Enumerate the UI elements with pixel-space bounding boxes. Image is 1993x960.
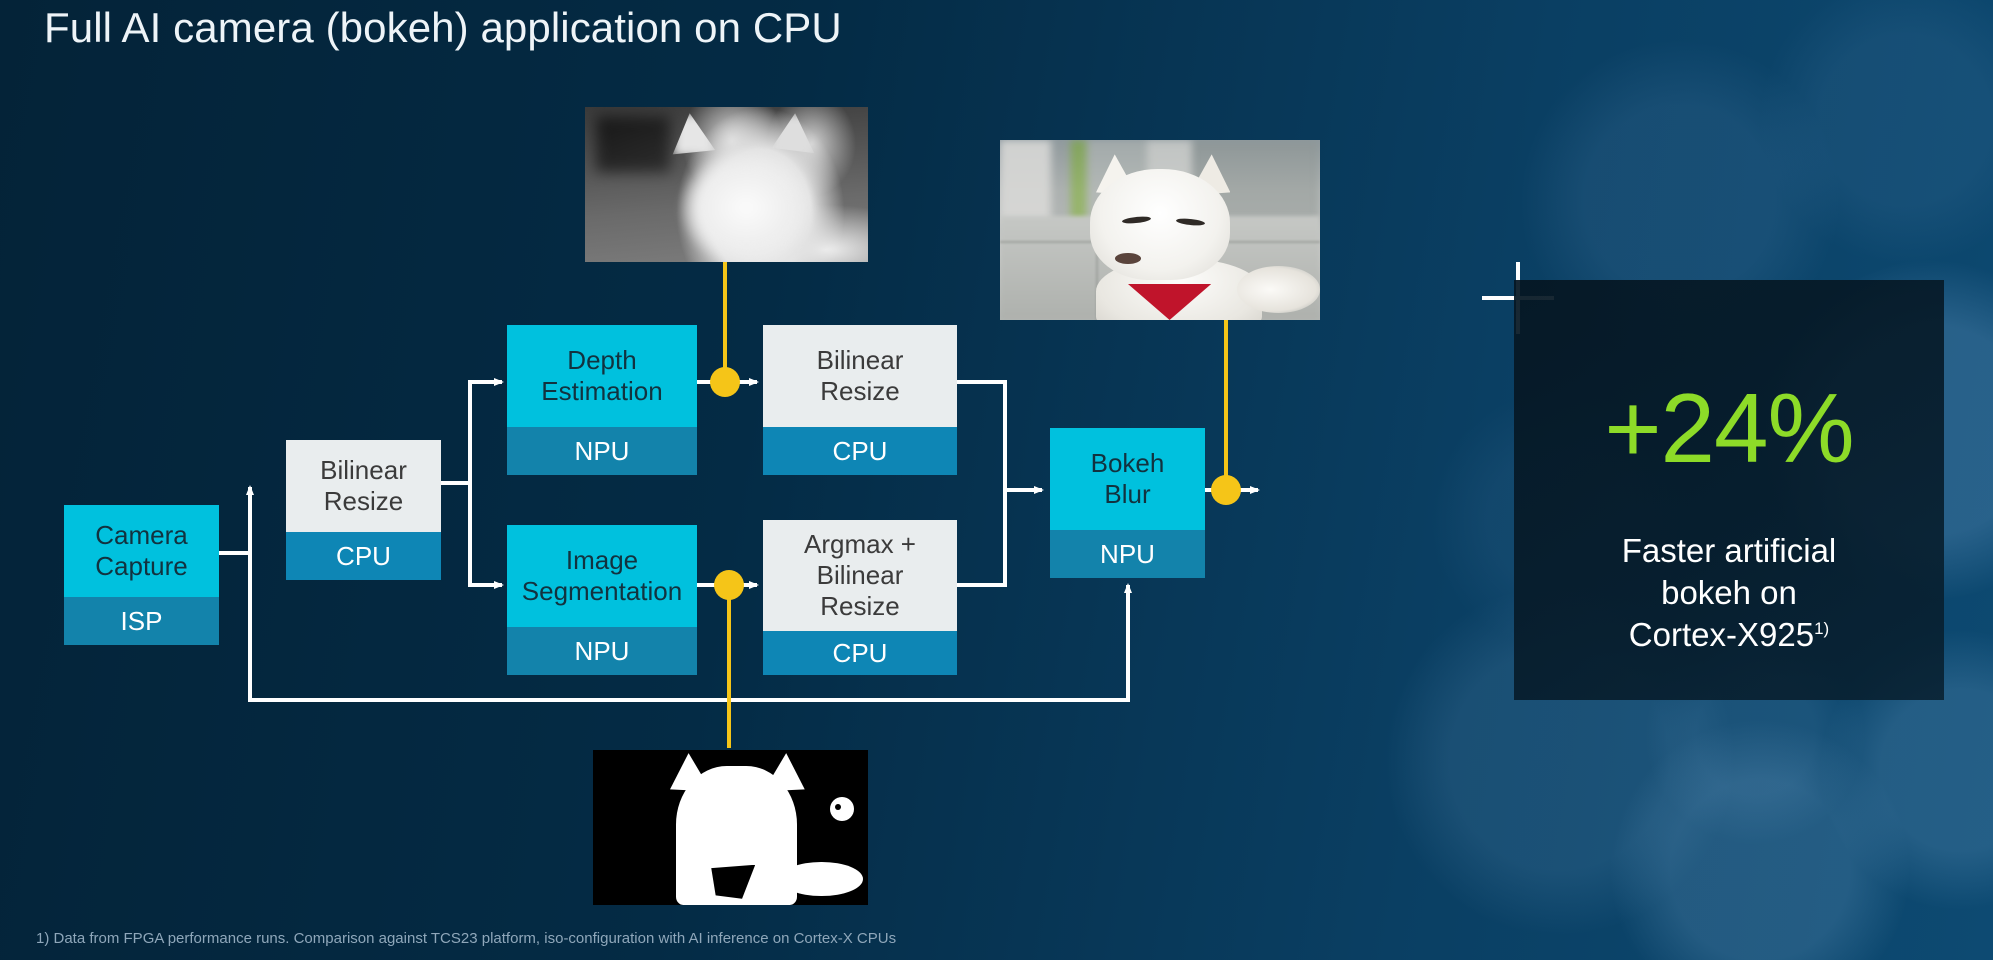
depth-background-region (596, 116, 670, 172)
connector-dot-depth (710, 367, 740, 397)
slide-footnote: 1) Data from FPGA performance runs. Comp… (36, 930, 896, 947)
block-label: Camera Capture (64, 505, 219, 597)
block-label: Bilinear Resize (286, 440, 441, 532)
depth-map-preview (585, 107, 868, 262)
wire-resize-to-segmentation (470, 483, 502, 585)
block-depth-estimation[interactable]: Depth Estimation NPU (507, 325, 697, 475)
wire-argmax-to-bokeh (957, 490, 1005, 585)
block-label: Depth Estimation (507, 325, 697, 427)
block-label: Argmax + Bilinear Resize (763, 520, 957, 631)
block-processor-badge: ISP (64, 597, 219, 645)
segmentation-mask-preview (593, 750, 868, 905)
wire-capture-to-resize (219, 487, 250, 553)
block-label: Image Segmentation (507, 525, 697, 627)
block-bilinear-resize-depth[interactable]: Bilinear Resize CPU (763, 325, 957, 475)
stat-caption-line3: Cortex-X925 (1629, 616, 1814, 653)
slide-canvas: Full AI camera (bokeh) application on CP… (0, 0, 1993, 960)
block-processor-badge: NPU (507, 627, 697, 675)
block-processor-badge: CPU (763, 427, 957, 475)
block-label: Bilinear Resize (763, 325, 957, 427)
block-bokeh-blur[interactable]: Bokeh Blur NPU (1050, 428, 1205, 578)
mask-blob (830, 797, 855, 822)
stat-caption-line2: bokeh on (1661, 574, 1797, 611)
stat-panel: +24% Faster artificial bokeh on Cortex-X… (1514, 280, 1944, 700)
bokeh-output-preview (1000, 140, 1320, 320)
block-camera-capture[interactable]: Camera Capture ISP (64, 505, 219, 645)
block-processor-badge: CPU (286, 532, 441, 580)
block-processor-badge: NPU (1050, 530, 1205, 578)
block-processor-badge: CPU (763, 631, 957, 675)
block-label: Bokeh Blur (1050, 428, 1205, 530)
stat-caption: Faster artificial bokeh on Cortex-X9251) (1514, 530, 1944, 657)
block-image-segmentation[interactable]: Image Segmentation NPU (507, 525, 697, 675)
block-processor-badge: NPU (507, 427, 697, 475)
photo-dog-head (1090, 169, 1231, 281)
connector-dot-segmentation (714, 570, 744, 600)
wire-resize-to-depth (470, 382, 502, 483)
stat-value: +24% (1514, 372, 1944, 485)
block-bilinear-resize-input[interactable]: Bilinear Resize CPU (286, 440, 441, 580)
block-argmax-bilinear-resize[interactable]: Argmax + Bilinear Resize CPU (763, 520, 957, 675)
stat-footnote-marker: 1) (1814, 619, 1829, 638)
connector-dot-bokeh (1211, 475, 1241, 505)
wire-resizedepth-to-bokeh (957, 382, 1042, 490)
stat-caption-line1: Faster artificial (1622, 532, 1837, 569)
photo-dog-tail (1237, 266, 1320, 313)
